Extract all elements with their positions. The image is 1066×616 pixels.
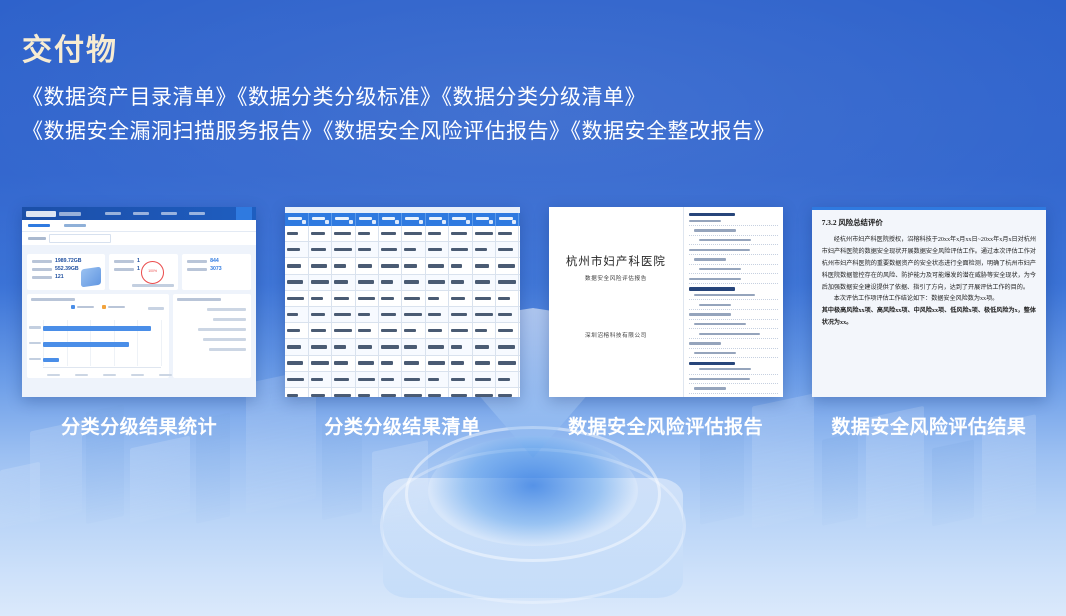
table-cell	[402, 242, 425, 257]
brand-logo-icon	[26, 211, 56, 217]
toc-entry[interactable]	[689, 333, 777, 339]
table-cell	[496, 323, 519, 338]
table-cell	[356, 291, 379, 306]
column-header-level-2[interactable]	[356, 213, 379, 226]
toc-entry-label	[689, 378, 750, 380]
filter-select[interactable]	[49, 234, 111, 243]
ranking-row	[209, 348, 247, 351]
ranking-row	[207, 308, 246, 311]
table-cell	[426, 291, 449, 306]
toc-entry-label	[699, 239, 750, 241]
table-cell	[473, 242, 496, 257]
table-cell	[402, 258, 425, 273]
report-toc-page	[684, 207, 782, 397]
toc-entry-label	[689, 342, 721, 344]
table-header-row[interactable]	[285, 213, 519, 226]
table-cell	[402, 226, 425, 241]
table-cell	[496, 258, 519, 273]
thumbnail-classification-statistics[interactable]: 1989.72GB 552.39GB 121 1 1 100% 844 3073	[22, 207, 256, 397]
caption-classification-statistics: 分类分级结果统计	[22, 412, 256, 439]
table-cell	[285, 275, 308, 290]
table-cell	[309, 356, 332, 371]
table-cell	[379, 323, 402, 338]
kpi-value-total: 1989.72GB	[55, 258, 82, 264]
column-header-chinese-name[interactable]	[496, 213, 519, 226]
table-row[interactable]	[285, 388, 519, 397]
table-cell	[496, 307, 519, 322]
table-cell	[285, 307, 308, 322]
nav-item-active[interactable]	[236, 207, 252, 220]
ranking-row	[213, 318, 247, 321]
report-subtitle: 数据安全风险评估报告	[585, 274, 647, 282]
table-cell	[496, 339, 519, 354]
toc-entry-label	[699, 304, 731, 306]
table-cell	[379, 307, 402, 322]
toc-entry-label	[689, 220, 721, 222]
deliverable-line-1: 《数据资产目录清单》《数据分类分级标准》《数据分类分级清单》	[22, 81, 1022, 115]
table-cell	[379, 388, 402, 397]
table-cell	[309, 323, 332, 338]
table-cell	[309, 275, 332, 290]
table-cell	[309, 226, 332, 241]
bar-ylabel-3	[29, 358, 41, 360]
toc-section-heading[interactable]	[689, 287, 735, 290]
table-cell	[449, 275, 472, 290]
bar-chart-panel	[27, 294, 169, 378]
kpi-label-records	[187, 268, 207, 271]
table-cell	[379, 242, 402, 257]
toc-entry[interactable]	[689, 229, 777, 235]
column-header-level-4[interactable]	[402, 213, 425, 226]
dashboard-screenshot: 1989.72GB 552.39GB 121 1 1 100% 844 3073	[22, 207, 256, 397]
report-cover-page: 杭州市妇产科医院 数据安全风险评估报告 深圳沼榕科技有限公司	[549, 207, 685, 397]
bar-chart-plot	[43, 320, 161, 366]
kpi-value-table: 1	[137, 266, 140, 272]
table-cell	[496, 242, 519, 257]
table-cell	[356, 323, 379, 338]
chart-row	[22, 290, 256, 383]
table-cell	[496, 388, 519, 397]
table-row[interactable]	[285, 372, 519, 388]
ranking-row	[198, 328, 247, 331]
table-cell	[332, 323, 355, 338]
bar-ylabel-1	[29, 326, 41, 328]
table-cell	[332, 275, 355, 290]
table-cell	[402, 339, 425, 354]
table-cell	[356, 307, 379, 322]
kpi-card-storage: 1989.72GB 552.39GB 121	[27, 254, 105, 290]
table-cell	[356, 242, 379, 257]
table-cell	[332, 388, 355, 397]
table-of-contents	[689, 213, 777, 397]
table-cell	[426, 258, 449, 273]
table-cell	[426, 323, 449, 338]
table-cell	[379, 356, 402, 371]
progress-ring-caption	[132, 284, 174, 287]
dashboard-navbar	[22, 207, 256, 220]
table-cell	[285, 291, 308, 306]
thumbnail-classification-list[interactable]	[285, 207, 519, 397]
pin-glow	[428, 436, 638, 546]
table-cell	[426, 388, 449, 397]
toc-entry-label	[694, 294, 755, 296]
kpi-label-sensitive	[32, 268, 52, 271]
column-header-database[interactable]	[309, 213, 332, 226]
thumbnail-captions: 分类分级结果统计 分类分级结果清单 数据安全风险评估报告 数据安全风险评估结果	[22, 412, 1046, 439]
table-cell	[496, 372, 519, 387]
progress-ring-chart: 100%	[141, 261, 164, 284]
page-title: 交付物	[22, 34, 1022, 67]
tab-asset-overview[interactable]	[28, 224, 50, 227]
table-cell	[473, 258, 496, 273]
toc-entry[interactable]	[689, 258, 777, 264]
table-cell	[473, 356, 496, 371]
section-title-overview	[22, 245, 256, 254]
table-cell	[332, 372, 355, 387]
table-cell	[285, 258, 308, 273]
table-cell	[449, 226, 472, 241]
kpi-label-total	[32, 260, 52, 263]
table-cell	[449, 307, 472, 322]
risk-paragraph-3: 其中极高风险xx项、高风险xx项、中风险xx项、低风险x项、极低风险为x，整体状…	[822, 306, 1036, 330]
table-cell	[426, 339, 449, 354]
table-cell	[379, 275, 402, 290]
toc-entry[interactable]	[689, 294, 777, 300]
column-header-level-5[interactable]	[426, 213, 449, 226]
risk-paragraph-1: 经杭州市妇产科医院授权，沼榕科技于20xx年x月xx日~20xx年x月x日对杭州…	[822, 235, 1036, 294]
table-row[interactable]	[285, 307, 519, 323]
progress-ring-value: 100%	[142, 269, 163, 273]
table-cell	[402, 388, 425, 397]
table-cell	[496, 226, 519, 241]
legend-item-sensitive-count	[102, 305, 125, 309]
table-body	[285, 226, 519, 397]
ranking-row	[203, 338, 246, 341]
table-cell	[449, 388, 472, 397]
dashboard-tabs[interactable]	[22, 220, 256, 232]
kpi-label-db	[114, 260, 134, 263]
table-cell	[426, 307, 449, 322]
table-cell	[309, 242, 332, 257]
column-header-field-name[interactable]	[473, 213, 496, 226]
toc-entry-label	[694, 229, 736, 231]
table-cell	[379, 226, 402, 241]
brand-name-label	[59, 212, 81, 216]
table-cell	[285, 356, 308, 371]
report-screenshot: 杭州市妇产科医院 数据安全风险评估报告 深圳沼榕科技有限公司	[549, 207, 783, 397]
table-cell	[332, 226, 355, 241]
toc-entry[interactable]	[689, 278, 777, 284]
table-cell	[285, 242, 308, 257]
toc-entry-label	[694, 323, 745, 325]
column-header-level-1[interactable]	[332, 213, 355, 226]
table-cell	[473, 226, 496, 241]
toc-entry-label	[699, 268, 741, 270]
table-cell	[332, 291, 355, 306]
toc-entry[interactable]	[689, 268, 777, 274]
table-cell	[356, 356, 379, 371]
caption-classification-list: 分类分级结果清单	[285, 412, 519, 439]
table-cell	[356, 258, 379, 273]
table-row[interactable]	[285, 226, 519, 242]
bar-chart-xaxis	[43, 367, 161, 368]
table-cell	[449, 339, 472, 354]
toc-entry[interactable]	[689, 387, 777, 393]
kpi-row: 1989.72GB 552.39GB 121 1 1 100% 844 3073	[22, 254, 256, 290]
table-cell	[309, 388, 332, 397]
spreadsheet-screenshot	[285, 207, 519, 397]
toc-entry[interactable]	[689, 304, 777, 310]
table-cell	[356, 275, 379, 290]
kpi-label-count	[32, 276, 52, 279]
table-cell	[449, 372, 472, 387]
caption-risk-assessment-result: 数据安全风险评估结果	[812, 412, 1046, 439]
filter-label	[28, 237, 46, 240]
bar-chart-unit-note	[148, 307, 164, 310]
table-cell	[332, 307, 355, 322]
bar-level-1	[43, 326, 151, 331]
column-header-asset-name[interactable]	[285, 213, 308, 226]
table-cell	[309, 258, 332, 273]
table-cell	[379, 372, 402, 387]
table-cell	[309, 291, 332, 306]
table-cell	[285, 226, 308, 241]
table-cell	[496, 275, 519, 290]
table-cell	[309, 307, 332, 322]
bar-chart-title	[31, 298, 75, 301]
toc-entry[interactable]	[689, 249, 777, 255]
database-cube-icon	[81, 267, 101, 288]
table-cell	[402, 275, 425, 290]
ranking-panel-title	[177, 298, 221, 301]
table-cell	[356, 339, 379, 354]
table-row[interactable]	[285, 258, 519, 274]
caption-risk-assessment-report: 数据安全风险评估报告	[549, 412, 783, 439]
table-row[interactable]	[285, 339, 519, 355]
table-cell	[473, 339, 496, 354]
deliverable-line-2: 《数据安全漏洞扫描服务报告》《数据安全风险评估报告》《数据安全整改报告》	[22, 115, 1022, 149]
table-cell	[473, 323, 496, 338]
report-company-name: 深圳沼榕科技有限公司	[549, 331, 684, 339]
table-cell	[426, 226, 449, 241]
toc-section-heading[interactable]	[689, 362, 735, 365]
bar-level-2	[43, 342, 129, 347]
table-cell	[473, 388, 496, 397]
header: 交付物 《数据资产目录清单》《数据分类分级标准》《数据分类分级清单》 《数据安全…	[22, 34, 1022, 149]
table-cell	[473, 372, 496, 387]
table-cell	[426, 356, 449, 371]
toc-entry[interactable]	[689, 323, 777, 329]
kpi-card-progress: 1 1 100%	[109, 254, 178, 290]
kpi-label-fields	[187, 260, 207, 263]
tab-secondary[interactable]	[64, 224, 86, 227]
toc-entry[interactable]	[689, 239, 777, 245]
table-cell	[402, 372, 425, 387]
table-cell	[285, 323, 308, 338]
dashboard-filter-row[interactable]	[22, 232, 256, 245]
table-cell	[449, 258, 472, 273]
toc-entry[interactable]	[689, 368, 777, 374]
nav-item-1[interactable]	[105, 212, 121, 215]
table-cell	[449, 291, 472, 306]
toc-entry-label	[694, 258, 726, 260]
table-cell	[379, 291, 402, 306]
table-cell	[402, 323, 425, 338]
table-cell	[473, 275, 496, 290]
toc-entry[interactable]	[689, 313, 777, 319]
table-cell	[402, 291, 425, 306]
table-cell	[402, 356, 425, 371]
table-cell	[426, 372, 449, 387]
column-header-level-3[interactable]	[379, 213, 402, 226]
table-cell	[496, 356, 519, 371]
kpi-value-db: 1	[137, 258, 140, 264]
table-cell	[379, 339, 402, 354]
table-cell	[402, 307, 425, 322]
navbar-menu[interactable]	[105, 212, 205, 215]
toc-entry-label	[694, 352, 736, 354]
nav-item-3[interactable]	[161, 212, 177, 215]
ranking-panel	[173, 294, 251, 378]
table-cell	[309, 339, 332, 354]
risk-paragraph-2: 本次评估工作项评估工作结论如下：数据安全风险数为xx项。	[822, 294, 1036, 306]
table-row[interactable]	[285, 323, 519, 339]
toc-entry[interactable]	[689, 352, 777, 358]
table-cell	[473, 307, 496, 322]
table-cell	[473, 291, 496, 306]
table-cell	[496, 291, 519, 306]
table-cell	[356, 226, 379, 241]
toc-entry-label	[699, 333, 760, 335]
risk-summary-screenshot: 7.3.2 风险总结评价 经杭州市妇产科医院授权，沼榕科技于20xx年x月xx日…	[812, 207, 1046, 397]
toc-entry-label	[689, 249, 750, 251]
kpi-label-table	[114, 268, 134, 271]
toc-entry-label	[689, 278, 740, 280]
kpi-card-fields: 844 3073	[182, 254, 251, 290]
table-cell	[449, 356, 472, 371]
table-row[interactable]	[285, 356, 519, 372]
ranking-list	[179, 308, 246, 358]
toc-entry-label	[694, 387, 726, 389]
bar-level-3	[43, 358, 59, 363]
deliverable-thumbnails: 1989.72GB 552.39GB 121 1 1 100% 844 3073	[22, 207, 1046, 397]
nav-item-2[interactable]	[133, 212, 149, 215]
toc-entry[interactable]	[689, 378, 777, 384]
table-cell	[332, 258, 355, 273]
table-cell	[285, 388, 308, 397]
bar-ylabel-2	[29, 342, 41, 344]
table-row[interactable]	[285, 242, 519, 258]
report-org-name: 杭州市妇产科医院	[566, 253, 666, 269]
table-cell	[285, 372, 308, 387]
table-cell	[356, 388, 379, 397]
table-cell	[332, 339, 355, 354]
toc-entry-label	[699, 368, 750, 370]
nav-item-4[interactable]	[189, 212, 205, 215]
kpi-value-records: 3073	[210, 266, 222, 272]
table-row[interactable]	[285, 291, 519, 307]
kpi-value-count: 121	[55, 274, 64, 280]
table-cell	[332, 242, 355, 257]
table-cell	[356, 372, 379, 387]
table-cell	[332, 356, 355, 371]
document-top-accent-bar	[812, 207, 1046, 210]
toc-section-heading[interactable]	[689, 213, 735, 216]
toc-entry-label	[689, 313, 731, 315]
bar-chart-legend	[31, 305, 165, 309]
table-row[interactable]	[285, 275, 519, 291]
toc-entry[interactable]	[689, 342, 777, 348]
column-header-tier[interactable]	[449, 213, 472, 226]
table-cell	[449, 323, 472, 338]
table-cell	[309, 372, 332, 387]
toc-entry[interactable]	[689, 220, 777, 226]
risk-section-heading: 7.3.2 风险总结评价	[822, 217, 1036, 228]
table-cell	[426, 275, 449, 290]
table-cell	[449, 242, 472, 257]
table-cell	[379, 258, 402, 273]
kpi-value-sensitive: 552.39GB	[55, 266, 79, 272]
thumbnail-risk-assessment-report[interactable]: 杭州市妇产科医院 数据安全风险评估报告 深圳沼榕科技有限公司	[549, 207, 783, 397]
legend-item-asset-count	[71, 305, 94, 309]
table-cell	[285, 339, 308, 354]
table-cell	[426, 242, 449, 257]
kpi-value-fields: 844	[210, 258, 219, 264]
thumbnail-risk-assessment-result[interactable]: 7.3.2 风险总结评价 经杭州市妇产科医院授权，沼榕科技于20xx年x月xx日…	[812, 207, 1046, 397]
